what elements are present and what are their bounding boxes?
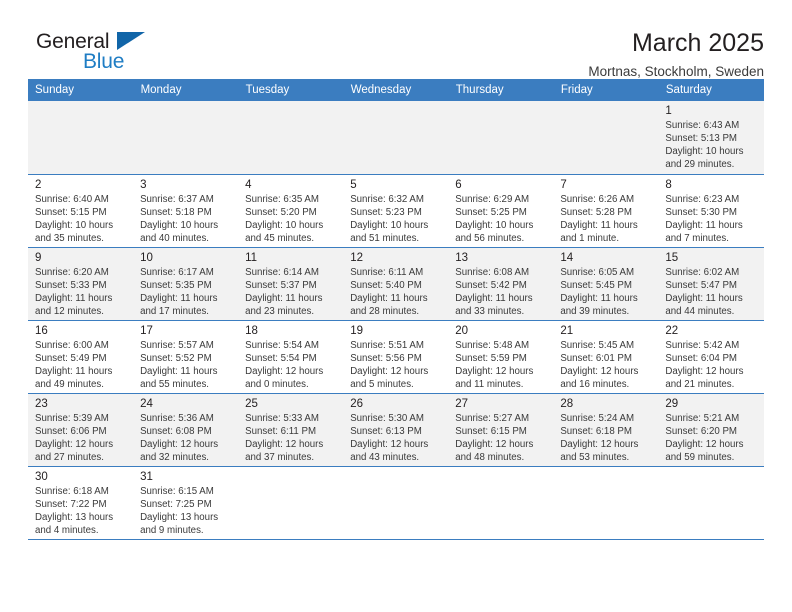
day-number: 9	[35, 251, 127, 265]
sunset-time: Sunset: 6:06 PM	[35, 426, 127, 439]
daylight-duration-line2: and 49 minutes.	[35, 379, 127, 392]
brand-name-top: General	[36, 31, 109, 52]
sunset-time: Sunset: 5:13 PM	[665, 133, 757, 146]
calendar-empty-cell	[553, 101, 658, 174]
calendar-day-cell[interactable]: 4Sunrise: 6:35 AMSunset: 5:20 PMDaylight…	[238, 174, 343, 247]
calendar-empty-cell	[28, 101, 133, 174]
sunset-time: Sunset: 5:25 PM	[455, 207, 547, 220]
day-cell-content	[133, 101, 238, 174]
daylight-duration-line2: and 55 minutes.	[140, 379, 232, 392]
calendar-week-row: 2Sunrise: 6:40 AMSunset: 5:15 PMDaylight…	[28, 174, 764, 247]
sunset-time: Sunset: 6:08 PM	[140, 426, 232, 439]
daylight-duration-line2: and 44 minutes.	[665, 306, 757, 319]
day-cell-content	[553, 467, 658, 539]
day-cell-content: 25Sunrise: 5:33 AMSunset: 6:11 PMDayligh…	[238, 394, 343, 466]
daylight-duration-line1: Daylight: 12 hours	[455, 366, 547, 379]
day-cell-content: 2Sunrise: 6:40 AMSunset: 5:15 PMDaylight…	[28, 175, 133, 247]
day-cell-content	[28, 101, 133, 174]
day-cell-content: 27Sunrise: 5:27 AMSunset: 6:15 PMDayligh…	[448, 394, 553, 466]
calendar-empty-cell	[343, 466, 448, 539]
day-number: 31	[140, 470, 232, 484]
daylight-duration-line2: and 16 minutes.	[560, 379, 652, 392]
weekday-header-sunday: Sunday	[28, 79, 133, 101]
title-block: March 2025 Mortnas, Stockholm, Sweden	[158, 30, 764, 79]
daylight-duration-line2: and 37 minutes.	[245, 452, 337, 465]
sunrise-time: Sunrise: 5:30 AM	[350, 413, 442, 426]
calendar-empty-cell	[553, 466, 658, 539]
daylight-duration-line2: and 5 minutes.	[350, 379, 442, 392]
sunrise-time: Sunrise: 6:43 AM	[665, 120, 757, 133]
day-cell-content: 12Sunrise: 6:11 AMSunset: 5:40 PMDayligh…	[343, 248, 448, 320]
day-number: 19	[350, 324, 442, 338]
day-number: 8	[665, 178, 757, 192]
day-cell-content: 10Sunrise: 6:17 AMSunset: 5:35 PMDayligh…	[133, 248, 238, 320]
page-subtitle: Mortnas, Stockholm, Sweden	[158, 64, 764, 79]
sunrise-time: Sunrise: 6:35 AM	[245, 194, 337, 207]
calendar-day-cell[interactable]: 31Sunrise: 6:15 AMSunset: 7:25 PMDayligh…	[133, 466, 238, 539]
weekday-header-monday: Monday	[133, 79, 238, 101]
daylight-duration-line1: Daylight: 11 hours	[245, 293, 337, 306]
calendar-day-cell[interactable]: 17Sunrise: 5:57 AMSunset: 5:52 PMDayligh…	[133, 320, 238, 393]
daylight-duration-line2: and 39 minutes.	[560, 306, 652, 319]
day-cell-content: 9Sunrise: 6:20 AMSunset: 5:33 PMDaylight…	[28, 248, 133, 320]
daylight-duration-line2: and 35 minutes.	[35, 233, 127, 246]
day-number: 16	[35, 324, 127, 338]
daylight-duration-line2: and 11 minutes.	[455, 379, 547, 392]
sunrise-time: Sunrise: 6:17 AM	[140, 267, 232, 280]
daylight-duration-line1: Daylight: 12 hours	[350, 439, 442, 452]
day-cell-content: 26Sunrise: 5:30 AMSunset: 6:13 PMDayligh…	[343, 394, 448, 466]
daylight-duration-line1: Daylight: 10 hours	[455, 220, 547, 233]
calendar-day-cell[interactable]: 8Sunrise: 6:23 AMSunset: 5:30 PMDaylight…	[658, 174, 763, 247]
day-number: 26	[350, 397, 442, 411]
calendar-week-row: 23Sunrise: 5:39 AMSunset: 6:06 PMDayligh…	[28, 393, 764, 466]
weekday-header-saturday: Saturday	[658, 79, 763, 101]
sunrise-time: Sunrise: 5:24 AM	[560, 413, 652, 426]
day-number: 22	[665, 324, 757, 338]
calendar-week-row: 30Sunrise: 6:18 AMSunset: 7:22 PMDayligh…	[28, 466, 764, 539]
sunset-time: Sunset: 5:52 PM	[140, 353, 232, 366]
sunrise-time: Sunrise: 6:23 AM	[665, 194, 757, 207]
day-cell-content: 17Sunrise: 5:57 AMSunset: 5:52 PMDayligh…	[133, 321, 238, 393]
day-cell-content: 1Sunrise: 6:43 AMSunset: 5:13 PMDaylight…	[658, 101, 763, 174]
calendar-day-cell[interactable]: 2Sunrise: 6:40 AMSunset: 5:15 PMDaylight…	[28, 174, 133, 247]
daylight-duration-line1: Daylight: 11 hours	[665, 220, 757, 233]
daylight-duration-line1: Daylight: 11 hours	[455, 293, 547, 306]
day-cell-content: 6Sunrise: 6:29 AMSunset: 5:25 PMDaylight…	[448, 175, 553, 247]
day-number: 14	[560, 251, 652, 265]
day-number: 23	[35, 397, 127, 411]
daylight-duration-line1: Daylight: 12 hours	[350, 366, 442, 379]
sunrise-time: Sunrise: 6:11 AM	[350, 267, 442, 280]
sunset-time: Sunset: 6:20 PM	[665, 426, 757, 439]
brand-name-bottom: Blue	[83, 51, 124, 72]
daylight-duration-line2: and 4 minutes.	[35, 525, 127, 538]
daylight-duration-line1: Daylight: 12 hours	[245, 366, 337, 379]
daylight-duration-line2: and 0 minutes.	[245, 379, 337, 392]
calendar-day-cell[interactable]: 7Sunrise: 6:26 AMSunset: 5:28 PMDaylight…	[553, 174, 658, 247]
calendar-day-cell[interactable]: 24Sunrise: 5:36 AMSunset: 6:08 PMDayligh…	[133, 393, 238, 466]
sunset-time: Sunset: 5:37 PM	[245, 280, 337, 293]
day-number: 27	[455, 397, 547, 411]
calendar-page: General Blue March 2025 Mortnas, Stockho…	[0, 0, 792, 612]
calendar-empty-cell	[448, 101, 553, 174]
sunset-time: Sunset: 5:45 PM	[560, 280, 652, 293]
calendar-day-cell[interactable]: 9Sunrise: 6:20 AMSunset: 5:33 PMDaylight…	[28, 247, 133, 320]
daylight-duration-line1: Daylight: 13 hours	[140, 512, 232, 525]
day-cell-content: 28Sunrise: 5:24 AMSunset: 6:18 PMDayligh…	[553, 394, 658, 466]
day-cell-content: 22Sunrise: 5:42 AMSunset: 6:04 PMDayligh…	[658, 321, 763, 393]
sunrise-time: Sunrise: 5:51 AM	[350, 340, 442, 353]
day-cell-content: 15Sunrise: 6:02 AMSunset: 5:47 PMDayligh…	[658, 248, 763, 320]
sunset-time: Sunset: 5:33 PM	[35, 280, 127, 293]
day-number: 30	[35, 470, 127, 484]
sunset-time: Sunset: 5:15 PM	[35, 207, 127, 220]
calendar-empty-cell	[238, 466, 343, 539]
day-number: 10	[140, 251, 232, 265]
daylight-duration-line2: and 43 minutes.	[350, 452, 442, 465]
sunset-time: Sunset: 5:30 PM	[665, 207, 757, 220]
day-number: 3	[140, 178, 232, 192]
daylight-duration-line1: Daylight: 12 hours	[665, 439, 757, 452]
day-cell-content: 16Sunrise: 6:00 AMSunset: 5:49 PMDayligh…	[28, 321, 133, 393]
daylight-duration-line1: Daylight: 12 hours	[35, 439, 127, 452]
daylight-duration-line2: and 1 minute.	[560, 233, 652, 246]
day-number: 21	[560, 324, 652, 338]
calendar-day-cell[interactable]: 21Sunrise: 5:45 AMSunset: 6:01 PMDayligh…	[553, 320, 658, 393]
sunrise-time: Sunrise: 5:54 AM	[245, 340, 337, 353]
daylight-duration-line1: Daylight: 12 hours	[455, 439, 547, 452]
day-cell-content: 18Sunrise: 5:54 AMSunset: 5:54 PMDayligh…	[238, 321, 343, 393]
daylight-duration-line1: Daylight: 11 hours	[560, 220, 652, 233]
day-number: 1	[665, 104, 757, 118]
calendar-day-cell[interactable]: 1Sunrise: 6:43 AMSunset: 5:13 PMDaylight…	[658, 101, 763, 174]
calendar-day-cell[interactable]: 16Sunrise: 6:00 AMSunset: 5:49 PMDayligh…	[28, 320, 133, 393]
calendar-day-cell[interactable]: 30Sunrise: 6:18 AMSunset: 7:22 PMDayligh…	[28, 466, 133, 539]
calendar-day-cell[interactable]: 19Sunrise: 5:51 AMSunset: 5:56 PMDayligh…	[343, 320, 448, 393]
calendar-week-row: 9Sunrise: 6:20 AMSunset: 5:33 PMDaylight…	[28, 247, 764, 320]
sunset-time: Sunset: 5:56 PM	[350, 353, 442, 366]
page-header: General Blue March 2025 Mortnas, Stockho…	[28, 0, 764, 70]
daylight-duration-line1: Daylight: 12 hours	[560, 366, 652, 379]
calendar-empty-cell	[343, 101, 448, 174]
calendar-day-cell[interactable]: 6Sunrise: 6:29 AMSunset: 5:25 PMDaylight…	[448, 174, 553, 247]
calendar-empty-cell	[448, 466, 553, 539]
calendar-day-cell[interactable]: 29Sunrise: 5:21 AMSunset: 6:20 PMDayligh…	[658, 393, 763, 466]
sunset-time: Sunset: 5:49 PM	[35, 353, 127, 366]
daylight-duration-line2: and 48 minutes.	[455, 452, 547, 465]
sunset-time: Sunset: 5:35 PM	[140, 280, 232, 293]
sunset-time: Sunset: 5:18 PM	[140, 207, 232, 220]
calendar-day-cell[interactable]: 5Sunrise: 6:32 AMSunset: 5:23 PMDaylight…	[343, 174, 448, 247]
sunset-time: Sunset: 6:15 PM	[455, 426, 547, 439]
calendar-day-cell[interactable]: 22Sunrise: 5:42 AMSunset: 6:04 PMDayligh…	[658, 320, 763, 393]
day-cell-content	[658, 467, 763, 539]
brand-triangle-icon	[117, 32, 145, 50]
daylight-duration-line2: and 12 minutes.	[35, 306, 127, 319]
day-cell-content: 7Sunrise: 6:26 AMSunset: 5:28 PMDaylight…	[553, 175, 658, 247]
sunrise-sunset-calendar: Sunday Monday Tuesday Wednesday Thursday…	[28, 79, 764, 540]
calendar-day-cell[interactable]: 13Sunrise: 6:08 AMSunset: 5:42 PMDayligh…	[448, 247, 553, 320]
daylight-duration-line1: Daylight: 10 hours	[35, 220, 127, 233]
daylight-duration-line1: Daylight: 11 hours	[665, 293, 757, 306]
sunrise-time: Sunrise: 5:33 AM	[245, 413, 337, 426]
daylight-duration-line1: Daylight: 12 hours	[665, 366, 757, 379]
sunset-time: Sunset: 6:18 PM	[560, 426, 652, 439]
page-title: March 2025	[158, 30, 764, 57]
calendar-day-cell[interactable]: 28Sunrise: 5:24 AMSunset: 6:18 PMDayligh…	[553, 393, 658, 466]
daylight-duration-line1: Daylight: 12 hours	[560, 439, 652, 452]
sunset-time: Sunset: 5:23 PM	[350, 207, 442, 220]
sunset-time: Sunset: 5:42 PM	[455, 280, 547, 293]
day-cell-content: 24Sunrise: 5:36 AMSunset: 6:08 PMDayligh…	[133, 394, 238, 466]
sunrise-time: Sunrise: 5:27 AM	[455, 413, 547, 426]
day-cell-content: 31Sunrise: 6:15 AMSunset: 7:25 PMDayligh…	[133, 467, 238, 539]
daylight-duration-line1: Daylight: 11 hours	[35, 366, 127, 379]
sunset-time: Sunset: 5:54 PM	[245, 353, 337, 366]
sunset-time: Sunset: 7:22 PM	[35, 499, 127, 512]
sunrise-time: Sunrise: 5:39 AM	[35, 413, 127, 426]
sunrise-time: Sunrise: 5:36 AM	[140, 413, 232, 426]
sunset-time: Sunset: 5:47 PM	[665, 280, 757, 293]
daylight-duration-line2: and 45 minutes.	[245, 233, 337, 246]
calendar-day-cell[interactable]: 18Sunrise: 5:54 AMSunset: 5:54 PMDayligh…	[238, 320, 343, 393]
sunset-time: Sunset: 6:11 PM	[245, 426, 337, 439]
daylight-duration-line2: and 53 minutes.	[560, 452, 652, 465]
sunset-time: Sunset: 5:20 PM	[245, 207, 337, 220]
sunrise-time: Sunrise: 6:40 AM	[35, 194, 127, 207]
calendar-day-cell[interactable]: 12Sunrise: 6:11 AMSunset: 5:40 PMDayligh…	[343, 247, 448, 320]
day-cell-content: 5Sunrise: 6:32 AMSunset: 5:23 PMDaylight…	[343, 175, 448, 247]
daylight-duration-line1: Daylight: 12 hours	[245, 439, 337, 452]
daylight-duration-line2: and 51 minutes.	[350, 233, 442, 246]
day-number: 18	[245, 324, 337, 338]
calendar-day-cell[interactable]: 3Sunrise: 6:37 AMSunset: 5:18 PMDaylight…	[133, 174, 238, 247]
day-cell-content	[343, 467, 448, 539]
daylight-duration-line2: and 56 minutes.	[455, 233, 547, 246]
sunrise-time: Sunrise: 6:20 AM	[35, 267, 127, 280]
calendar-week-row: 16Sunrise: 6:00 AMSunset: 5:49 PMDayligh…	[28, 320, 764, 393]
day-number: 13	[455, 251, 547, 265]
calendar-day-cell[interactable]: 10Sunrise: 6:17 AMSunset: 5:35 PMDayligh…	[133, 247, 238, 320]
sunset-time: Sunset: 5:40 PM	[350, 280, 442, 293]
calendar-empty-cell	[658, 466, 763, 539]
sunrise-time: Sunrise: 6:14 AM	[245, 267, 337, 280]
daylight-duration-line1: Daylight: 12 hours	[140, 439, 232, 452]
day-number: 15	[665, 251, 757, 265]
sunset-time: Sunset: 6:01 PM	[560, 353, 652, 366]
daylight-duration-line2: and 40 minutes.	[140, 233, 232, 246]
day-number: 28	[560, 397, 652, 411]
sunset-time: Sunset: 6:13 PM	[350, 426, 442, 439]
sunrise-time: Sunrise: 6:08 AM	[455, 267, 547, 280]
day-cell-content: 19Sunrise: 5:51 AMSunset: 5:56 PMDayligh…	[343, 321, 448, 393]
day-number: 20	[455, 324, 547, 338]
day-number: 24	[140, 397, 232, 411]
sunrise-time: Sunrise: 6:00 AM	[35, 340, 127, 353]
day-number: 6	[455, 178, 547, 192]
daylight-duration-line2: and 28 minutes.	[350, 306, 442, 319]
day-cell-content: 20Sunrise: 5:48 AMSunset: 5:59 PMDayligh…	[448, 321, 553, 393]
daylight-duration-line1: Daylight: 10 hours	[245, 220, 337, 233]
calendar-day-cell[interactable]: 26Sunrise: 5:30 AMSunset: 6:13 PMDayligh…	[343, 393, 448, 466]
day-cell-content	[448, 467, 553, 539]
day-number: 5	[350, 178, 442, 192]
weekday-header-thursday: Thursday	[448, 79, 553, 101]
day-number: 29	[665, 397, 757, 411]
day-cell-content: 8Sunrise: 6:23 AMSunset: 5:30 PMDaylight…	[658, 175, 763, 247]
daylight-duration-line2: and 29 minutes.	[665, 159, 757, 172]
day-cell-content	[553, 101, 658, 174]
sunrise-time: Sunrise: 6:32 AM	[350, 194, 442, 207]
daylight-duration-line1: Daylight: 11 hours	[140, 293, 232, 306]
day-cell-content: 14Sunrise: 6:05 AMSunset: 5:45 PMDayligh…	[553, 248, 658, 320]
weekday-header-friday: Friday	[553, 79, 658, 101]
calendar-day-cell[interactable]: 25Sunrise: 5:33 AMSunset: 6:11 PMDayligh…	[238, 393, 343, 466]
sunrise-time: Sunrise: 6:37 AM	[140, 194, 232, 207]
calendar-day-cell[interactable]: 23Sunrise: 5:39 AMSunset: 6:06 PMDayligh…	[28, 393, 133, 466]
calendar-day-cell[interactable]: 27Sunrise: 5:27 AMSunset: 6:15 PMDayligh…	[448, 393, 553, 466]
day-cell-content	[448, 101, 553, 174]
day-cell-content: 3Sunrise: 6:37 AMSunset: 5:18 PMDaylight…	[133, 175, 238, 247]
day-cell-content: 23Sunrise: 5:39 AMSunset: 6:06 PMDayligh…	[28, 394, 133, 466]
calendar-empty-cell	[238, 101, 343, 174]
weekday-header-wednesday: Wednesday	[343, 79, 448, 101]
daylight-duration-line2: and 23 minutes.	[245, 306, 337, 319]
sunrise-time: Sunrise: 5:45 AM	[560, 340, 652, 353]
daylight-duration-line1: Daylight: 11 hours	[35, 293, 127, 306]
daylight-duration-line1: Daylight: 10 hours	[350, 220, 442, 233]
day-number: 12	[350, 251, 442, 265]
daylight-duration-line1: Daylight: 11 hours	[560, 293, 652, 306]
day-cell-content	[238, 101, 343, 174]
weekday-header-tuesday: Tuesday	[238, 79, 343, 101]
day-cell-content	[238, 467, 343, 539]
sunset-time: Sunset: 5:28 PM	[560, 207, 652, 220]
calendar-day-cell[interactable]: 14Sunrise: 6:05 AMSunset: 5:45 PMDayligh…	[553, 247, 658, 320]
day-number: 2	[35, 178, 127, 192]
sunrise-time: Sunrise: 6:02 AM	[665, 267, 757, 280]
daylight-duration-line2: and 27 minutes.	[35, 452, 127, 465]
sunrise-time: Sunrise: 6:29 AM	[455, 194, 547, 207]
day-cell-content: 4Sunrise: 6:35 AMSunset: 5:20 PMDaylight…	[238, 175, 343, 247]
sunrise-time: Sunrise: 5:42 AM	[665, 340, 757, 353]
calendar-week-row: 1Sunrise: 6:43 AMSunset: 5:13 PMDaylight…	[28, 101, 764, 174]
daylight-duration-line1: Daylight: 10 hours	[140, 220, 232, 233]
daylight-duration-line2: and 32 minutes.	[140, 452, 232, 465]
day-cell-content	[343, 101, 448, 174]
daylight-duration-line2: and 21 minutes.	[665, 379, 757, 392]
day-cell-content: 11Sunrise: 6:14 AMSunset: 5:37 PMDayligh…	[238, 248, 343, 320]
sunrise-time: Sunrise: 5:21 AM	[665, 413, 757, 426]
calendar-day-cell[interactable]: 11Sunrise: 6:14 AMSunset: 5:37 PMDayligh…	[238, 247, 343, 320]
daylight-duration-line1: Daylight: 10 hours	[665, 146, 757, 159]
day-number: 11	[245, 251, 337, 265]
brand-logo[interactable]: General Blue	[28, 30, 158, 78]
sunset-time: Sunset: 6:04 PM	[665, 353, 757, 366]
day-cell-content: 13Sunrise: 6:08 AMSunset: 5:42 PMDayligh…	[448, 248, 553, 320]
daylight-duration-line1: Daylight: 11 hours	[140, 366, 232, 379]
calendar-day-cell[interactable]: 15Sunrise: 6:02 AMSunset: 5:47 PMDayligh…	[658, 247, 763, 320]
day-number: 7	[560, 178, 652, 192]
day-number: 17	[140, 324, 232, 338]
daylight-duration-line2: and 17 minutes.	[140, 306, 232, 319]
day-number: 4	[245, 178, 337, 192]
daylight-duration-line1: Daylight: 13 hours	[35, 512, 127, 525]
calendar-day-cell[interactable]: 20Sunrise: 5:48 AMSunset: 5:59 PMDayligh…	[448, 320, 553, 393]
daylight-duration-line2: and 9 minutes.	[140, 525, 232, 538]
sunrise-time: Sunrise: 6:05 AM	[560, 267, 652, 280]
day-cell-content: 21Sunrise: 5:45 AMSunset: 6:01 PMDayligh…	[553, 321, 658, 393]
sunset-time: Sunset: 5:59 PM	[455, 353, 547, 366]
day-cell-content: 29Sunrise: 5:21 AMSunset: 6:20 PMDayligh…	[658, 394, 763, 466]
daylight-duration-line2: and 7 minutes.	[665, 233, 757, 246]
sunrise-time: Sunrise: 5:48 AM	[455, 340, 547, 353]
daylight-duration-line2: and 33 minutes.	[455, 306, 547, 319]
calendar-empty-cell	[133, 101, 238, 174]
sunrise-time: Sunrise: 6:26 AM	[560, 194, 652, 207]
sunset-time: Sunset: 7:25 PM	[140, 499, 232, 512]
day-number: 25	[245, 397, 337, 411]
calendar-header-row: Sunday Monday Tuesday Wednesday Thursday…	[28, 79, 764, 101]
sunrise-time: Sunrise: 5:57 AM	[140, 340, 232, 353]
daylight-duration-line1: Daylight: 11 hours	[350, 293, 442, 306]
sunrise-time: Sunrise: 6:18 AM	[35, 486, 127, 499]
sunrise-time: Sunrise: 6:15 AM	[140, 486, 232, 499]
daylight-duration-line2: and 59 minutes.	[665, 452, 757, 465]
day-cell-content: 30Sunrise: 6:18 AMSunset: 7:22 PMDayligh…	[28, 467, 133, 539]
calendar-body: 1Sunrise: 6:43 AMSunset: 5:13 PMDaylight…	[28, 101, 764, 539]
